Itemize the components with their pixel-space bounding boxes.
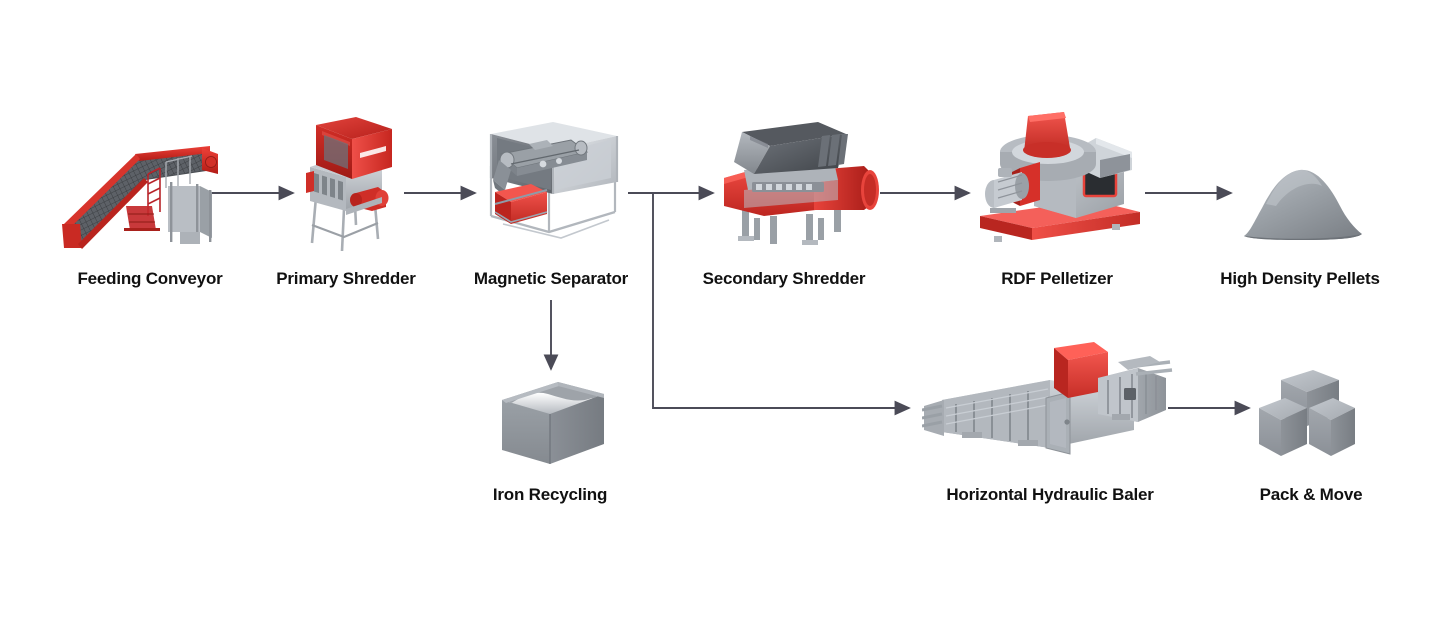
secondary-shredder-icon — [714, 118, 886, 258]
label-pack-and-move: Pack & Move — [1211, 486, 1411, 503]
label-magnetic-separator: Magnetic Separator — [451, 270, 651, 287]
label-secondary-shredder: Secondary Shredder — [682, 270, 886, 287]
stacked-bales-icon — [1255, 364, 1361, 468]
node-horizontal-hydraulic-baler[interactable] — [922, 336, 1174, 476]
node-high-density-pellets[interactable] — [1236, 160, 1370, 252]
label-horizontal-hydraulic-baler: Horizontal Hydraulic Baler — [925, 486, 1175, 503]
rdf-pelletizer-icon — [972, 108, 1148, 258]
node-rdf-pelletizer[interactable] — [972, 108, 1148, 258]
label-rdf-pelletizer: RDF Pelletizer — [957, 270, 1157, 287]
pellet-pile-icon — [1236, 160, 1370, 252]
primary-shredder-icon — [300, 113, 400, 253]
inclined-belt-conveyor-icon — [60, 112, 240, 267]
horizontal-baler-icon — [922, 336, 1174, 476]
label-primary-shredder: Primary Shredder — [246, 270, 446, 287]
label-iron-recycling: Iron Recycling — [450, 486, 650, 503]
scrap-bin-icon — [496, 376, 610, 472]
magnetic-separator-icon — [483, 120, 625, 260]
label-feeding-conveyor: Feeding Conveyor — [50, 270, 250, 287]
node-feeding-conveyor[interactable] — [60, 112, 240, 267]
flow-connectors — [0, 0, 1440, 620]
node-iron-recycling[interactable] — [496, 376, 610, 472]
node-magnetic-separator[interactable] — [483, 120, 625, 260]
node-pack-and-move[interactable] — [1255, 364, 1361, 468]
node-secondary-shredder[interactable] — [714, 118, 886, 258]
label-high-density-pellets: High Density Pellets — [1200, 270, 1400, 287]
node-primary-shredder[interactable] — [300, 113, 400, 253]
process-flow-diagram: Feeding Conveyor — [0, 0, 1440, 620]
